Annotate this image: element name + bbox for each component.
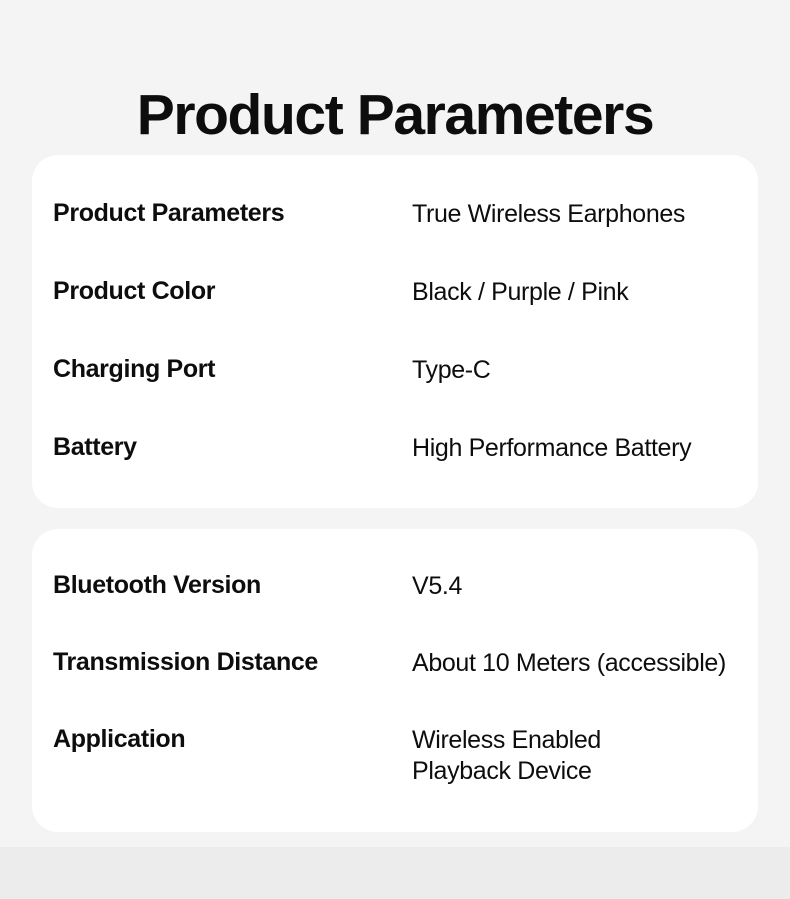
spec-value: Black / Purple / Pink bbox=[412, 277, 758, 308]
spec-label: Product Parameters bbox=[53, 199, 412, 229]
table-row: Product Parameters True Wireless Earphon… bbox=[32, 199, 758, 277]
spec-value: Type-C bbox=[412, 355, 758, 386]
spec-value: Wireless Enabled Playback Device bbox=[412, 725, 758, 788]
footer-band bbox=[0, 847, 790, 899]
spec-value: High Performance Battery bbox=[412, 433, 758, 464]
spec-label: Application bbox=[53, 725, 412, 755]
spec-card-connectivity: Bluetooth Version V5.4 Transmission Dist… bbox=[32, 529, 758, 832]
table-row: Battery High Performance Battery bbox=[32, 433, 758, 511]
spec-label: Bluetooth Version bbox=[53, 571, 412, 601]
spec-value: V5.4 bbox=[412, 571, 758, 602]
spec-label: Battery bbox=[53, 433, 412, 463]
spec-card-general: Product Parameters True Wireless Earphon… bbox=[32, 155, 758, 508]
spec-label: Product Color bbox=[53, 277, 412, 307]
table-row: Bluetooth Version V5.4 bbox=[32, 571, 758, 648]
table-row: Transmission Distance About 10 Meters (a… bbox=[32, 648, 758, 725]
table-row: Charging Port Type-C bbox=[32, 355, 758, 433]
spec-value: About 10 Meters (accessible) bbox=[412, 648, 758, 679]
page-title: Product Parameters bbox=[0, 86, 790, 146]
spec-value: True Wireless Earphones bbox=[412, 199, 758, 230]
product-parameters-page: Product Parameters Product Parameters Tr… bbox=[0, 0, 790, 899]
spec-label: Transmission Distance bbox=[53, 648, 412, 678]
spec-label: Charging Port bbox=[53, 355, 412, 385]
table-row: Application Wireless Enabled Playback De… bbox=[32, 725, 758, 802]
table-row: Product Color Black / Purple / Pink bbox=[32, 277, 758, 355]
